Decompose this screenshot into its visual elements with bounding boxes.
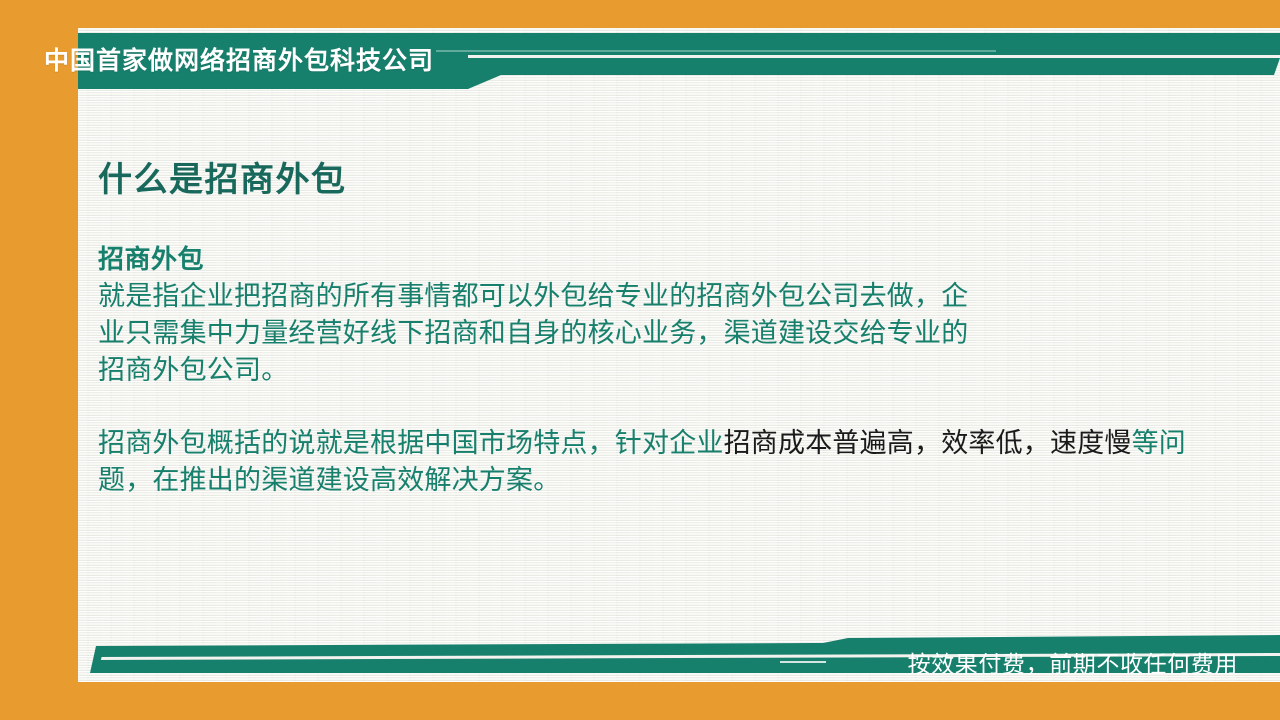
page-title: 什么是招商外包	[98, 160, 1238, 201]
main-content: 什么是招商外包 招商外包 就是指企业把招商的所有事情都可以外包给专业的招商外包公…	[98, 160, 1238, 499]
paragraph-spacer	[98, 389, 1238, 425]
paragraph-1-line-3: 招商外包公司。	[98, 355, 288, 385]
paragraph-2: 招商外包概括的说就是根据中国市场特点，针对企业招商成本普遍高，效率低，速度慢等问…	[98, 425, 1238, 499]
paragraph-1: 就是指企业把招商的所有事情都可以外包给专业的招商外包公司去做，企 业只需集中力量…	[98, 278, 1238, 389]
paragraph-1-line-2: 业只需集中力量经营好线下招商和自身的核心业务，渠道建设交给专业的	[98, 318, 968, 348]
footer-tagline: 按效果付费，前期不收任何费用	[908, 645, 1238, 679]
paragraph-2-segment-1: 招商外包概括的说就是根据中国市场特点，针对企业	[98, 428, 724, 458]
paragraph-1-line-1: 就是指企业把招商的所有事情都可以外包给专业的招商外包公司去做，企	[98, 281, 968, 311]
paragraph-2-highlight: 招商成本普遍高，效率低，速度慢	[724, 428, 1132, 458]
lead-label: 招商外包	[98, 243, 1238, 276]
header-title: 中国首家做网络招商外包科技公司	[44, 41, 434, 77]
slide-root: 中国首家做网络招商外包科技公司 什么是招商外包 招商外包 就是指企业把招商的所有…	[0, 0, 1280, 720]
